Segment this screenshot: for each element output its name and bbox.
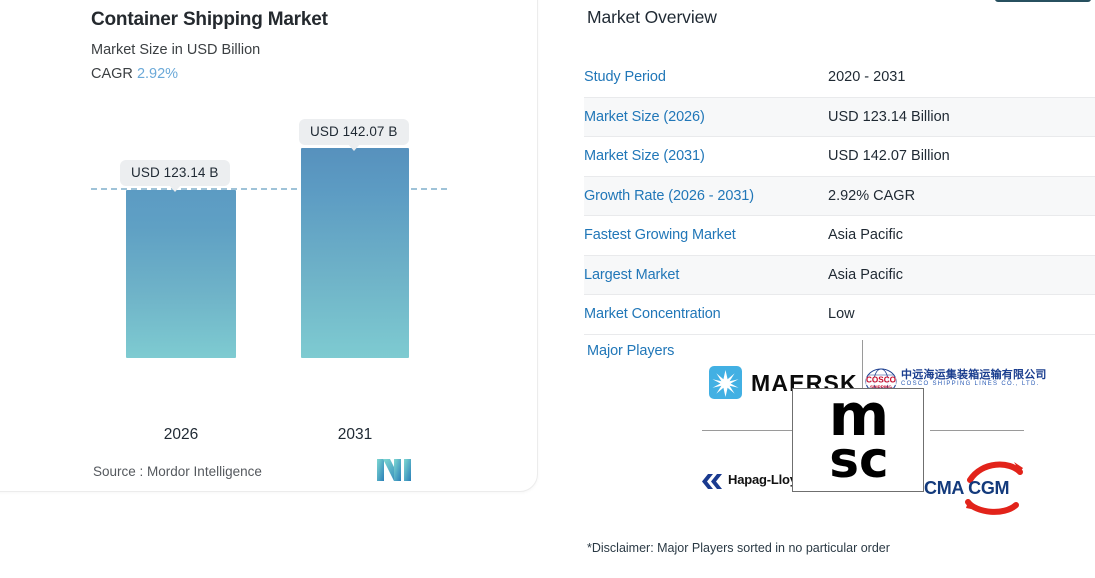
hapag-lloyd-logo: Hapag-Lloyd [702,470,797,494]
chart-source: Source : Mordor Intelligence [93,464,262,479]
hapag-lloyd-chevron-icon [702,474,724,489]
table-row: Largest Market Asia Pacific [584,255,1095,295]
row-key: Market Size (2031) [584,137,828,177]
bar-2026[interactable] [126,190,236,358]
row-value: Low [828,295,1095,335]
row-value: USD 123.14 Billion [828,97,1095,137]
disclaimer-text: *Disclaimer: Major Players sorted in no … [587,541,890,555]
cosco-chinese-name: 中远海运集装箱运输有限公司 [901,366,1047,382]
row-key: Study Period [584,58,828,97]
source-label: Source : [93,464,143,479]
row-key: Market Size (2026) [584,97,828,137]
row-value: Asia Pacific [828,216,1095,256]
table-row: Market Size (2026) USD 123.14 Billion [584,97,1095,137]
table-row: Market Size (2031) USD 142.07 Billion [584,137,1095,177]
table-row: Growth Rate (2026 - 2031) 2.92% CAGR [584,176,1095,216]
chart-card-inner: Container Shipping Market Market Size in… [0,0,538,492]
major-players-label: Major Players [587,343,674,359]
grid-line-horizontal-left [702,430,797,431]
bar-chart-plot: USD 123.14 B USD 142.07 B 2026 2031 [0,0,538,492]
row-key: Fastest Growing Market [584,216,828,256]
bar-label-2031: USD 142.07 B [299,119,409,145]
table-row: Fastest Growing Market Asia Pacific [584,216,1095,256]
row-key: Growth Rate (2026 - 2031) [584,176,828,216]
row-key: Largest Market [584,255,828,295]
maersk-star-badge [709,366,742,399]
market-overview-panel: Market Overview Study Period 2020 - 2031… [584,0,1095,578]
maersk-star-icon [709,366,742,399]
mordor-intelligence-logo [377,457,411,483]
major-players-logo-grid: MAERSK COSCO SHIPPING 中远海运集装箱运输有限公司 COSC… [702,340,1022,530]
x-tick-2026: 2026 [126,426,236,444]
grid-line-horizontal-right [930,430,1024,431]
row-value: USD 142.07 Billion [828,137,1095,177]
msc-logo: m sc [792,388,924,492]
cma-cgm-logo: CMA CGM [924,458,1024,516]
x-tick-2031: 2031 [301,426,409,444]
row-key: Market Concentration [584,295,828,335]
market-overview-page: Container Shipping Market Market Size in… [0,0,1095,578]
bar-label-2026: USD 123.14 B [120,160,230,186]
panel-heading: Market Overview [587,7,717,28]
row-value: 2020 - 2031 [828,58,1095,97]
row-value: 2.92% CAGR [828,176,1095,216]
row-value: Asia Pacific [828,255,1095,295]
top-chip-decoration [995,0,1091,2]
overview-table: Study Period 2020 - 2031 Market Size (20… [584,58,1095,335]
cma-cgm-wordmark: CMA CGM [924,478,1009,499]
table-row: Study Period 2020 - 2031 [584,58,1095,97]
source-name: Mordor Intelligence [147,464,262,479]
msc-line-2: sc [793,435,925,485]
bar-2031[interactable] [301,148,409,358]
table-row: Market Concentration Low [584,295,1095,335]
chart-card: Container Shipping Market Market Size in… [0,0,538,492]
